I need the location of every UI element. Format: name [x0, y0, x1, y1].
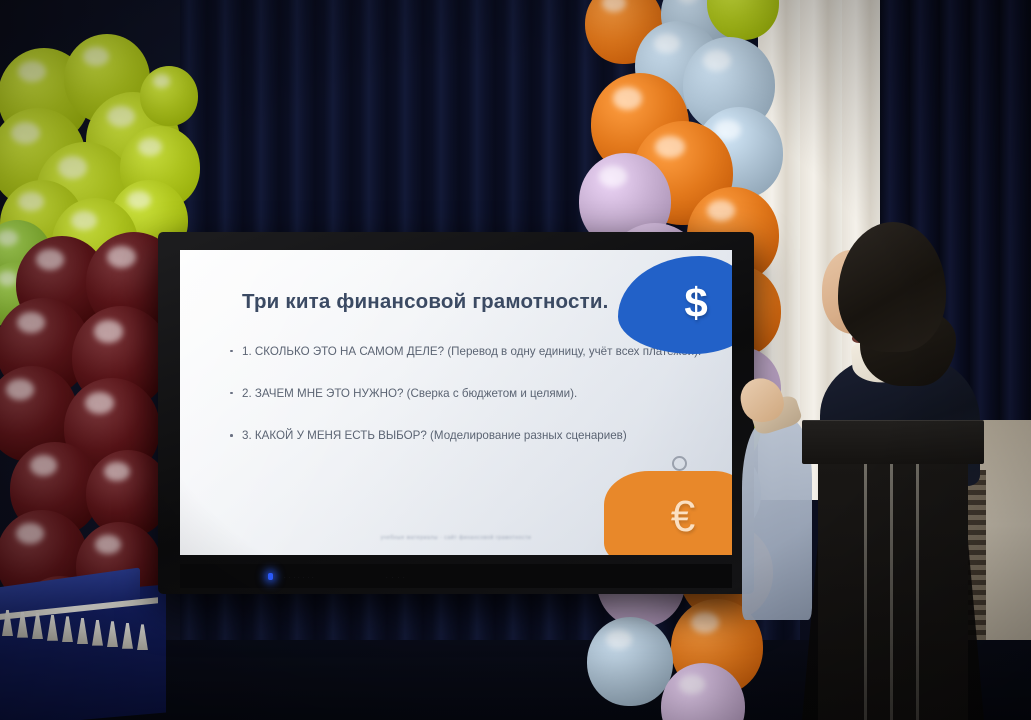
wall-display[interactable]: Три кита финансовой грамотности. 1. СКОЛ…: [158, 232, 754, 594]
dollar-sign-icon: $: [684, 282, 707, 324]
list-item: 3. КАКОЙ У МЕНЯ ЕСТЬ ВЫБОР? (Моделирован…: [228, 428, 708, 443]
presentation-slide: Три кита финансовой грамотности. 1. СКОЛ…: [180, 250, 732, 555]
podium-top: [802, 420, 984, 464]
balloon: [140, 66, 198, 126]
podium: [802, 420, 984, 720]
podium-stripe: [890, 464, 893, 720]
bezel-control-marks-right[interactable]: ····: [386, 575, 409, 581]
slide-bullet-list: 1. СКОЛЬКО ЭТО НА САМОМ ДЕЛЕ? (Перевод в…: [228, 332, 708, 470]
circle-marker-icon: [672, 456, 687, 471]
dollar-blob-graphic: $: [618, 256, 732, 354]
slide-title: Три кита финансовой грамотности.: [242, 290, 609, 314]
presenter-hijab: [838, 222, 946, 352]
photo-scene: Три кита финансовой грамотности. 1. СКОЛ…: [0, 0, 1031, 720]
list-item: 1. СКОЛЬКО ЭТО НА САМОМ ДЕЛЕ? (Перевод в…: [228, 344, 708, 359]
slide-footer-text: учебные материалы · сайт финансовой грам…: [381, 535, 532, 541]
euro-sign-icon: €: [671, 495, 695, 539]
podium-stripe: [916, 464, 919, 720]
podium-body: [818, 460, 968, 720]
display-bottom-bezel: [180, 564, 732, 588]
display-screen[interactable]: Три кита финансовой грамотности. 1. СКОЛ…: [180, 250, 732, 555]
list-item: 2. ЗАЧЕМ МНЕ ЭТО НУЖНО? (Сверка с бюджет…: [228, 386, 708, 401]
balloon: [587, 617, 673, 706]
bezel-control-marks-left[interactable]: ·······: [284, 575, 317, 581]
power-led-indicator: [268, 573, 273, 580]
podium-stripe: [864, 464, 867, 720]
euro-blob-graphic: €: [604, 471, 732, 555]
